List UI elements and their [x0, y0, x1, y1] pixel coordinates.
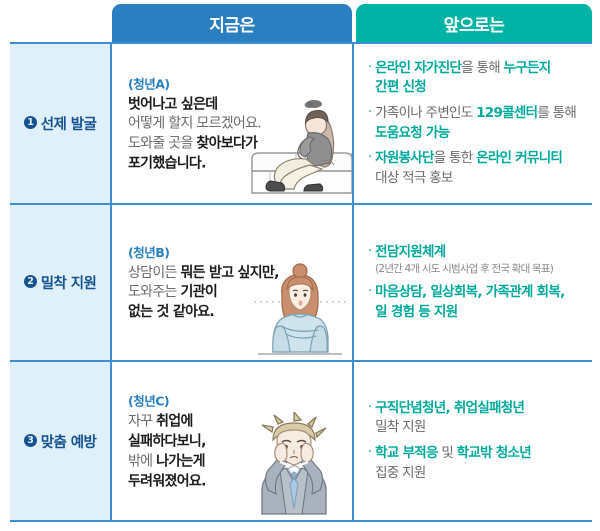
quote-speaker-1: (청년A): [128, 73, 261, 92]
bullet-item: ·학교 부적응 및 학교밖 청소년집중 지원: [368, 444, 582, 483]
bullet-list-2: ·전담지원체계(2년간 4개 시도 시범사업 후 전국 확대 목표)·마음상담,…: [368, 237, 582, 328]
bullet-item: ·전담지원체계(2년간 4개 시도 시범사업 후 전국 확대 목표): [368, 243, 582, 277]
bullet-item: ·가족이나 주변인도 129콜센터를 통해도움요청 가능: [368, 104, 582, 143]
quote-block-1: (청년A) 벗어나고 싶은데어떻게 할지 모르겠어요.도와줄 곳을 찾아보다가포…: [128, 73, 261, 175]
quote-line: 실패하다보니,: [128, 432, 206, 452]
quote-line: 포기했습니다.: [128, 154, 261, 174]
tab-now-label: 지금은: [209, 11, 254, 36]
quote-line: 없는 것 같아요.: [128, 303, 279, 323]
table-row: 2 밀착 지원 (청년B) 상담이든 뭐든 받고 싶지만,도와주는 기관이없는 …: [10, 205, 592, 362]
bullet-text: 마음상담, 일상회복, 가족관계 회복,일 경험 등 지원: [375, 283, 564, 322]
row-now-cell-2: (청년B) 상담이든 뭐든 받고 싶지만,도와주는 기관이없는 것 같아요.: [112, 205, 354, 360]
bullet-text: 전담지원체계(2년간 4개 시도 시범사업 후 전국 확대 목표): [375, 243, 553, 277]
quote-line: 어떻게 할지 모르겠어요.: [128, 115, 261, 135]
quote-line: 벗어나고 싶은데: [128, 95, 261, 115]
row-now-cell-3: (청년C) 자꾸 취업에실패하다보니,밖에 나가는게두려워졌어요.: [112, 362, 354, 520]
table-body: 1 선제 발굴 (청년A) 벗어나고 싶은데어떻게 할지 모르겠어요.도와줄 곳…: [10, 42, 592, 522]
row-label-cell-2: 2 밀착 지원: [10, 205, 112, 360]
quote-line: 두려워졌어요.: [128, 472, 206, 492]
row-future-cell-3: ·구직단념청년, 취업실패청년밀착 지원·학교 부적응 및 학교밖 청소년집중 …: [354, 362, 592, 520]
quote-block-3: (청년C) 자꾸 취업에실패하다보니,밖에 나가는게두려워졌어요.: [128, 390, 206, 492]
bullet-item: ·구직단념청년, 취업실패청년밀착 지원: [368, 399, 582, 438]
bullet-note: (2년간 4개 시도 시범사업 후 전국 확대 목표): [375, 263, 553, 277]
quote-line: 도와주는 기관이: [128, 284, 279, 304]
quote-lines-2: 상담이든 뭐든 받고 싶지만,도와주는 기관이없는 것 같아요.: [128, 264, 279, 324]
bullet-text: 가족이나 주변인도 129콜센터를 통해도움요청 가능: [375, 104, 576, 143]
bullet-item: ·자원봉사단을 통한 온라인 커뮤니티대상 적극 홍보: [368, 149, 582, 188]
infographic-table: 지금은 앞으로는 1 선제 발굴 (청년A) 벗어나고 싶은데어떻게 할지 모르…: [0, 0, 600, 531]
row-number-badge-3: 3: [24, 434, 37, 447]
bullet-dot-icon: ·: [368, 283, 372, 302]
quote-line: 자꾸 취업에: [128, 412, 206, 432]
quote-speaker-3: (청년C): [128, 390, 206, 409]
bullet-text: 온라인 자가진단을 통해 누구든지간편 신청: [375, 59, 550, 98]
row-label-cell-3: 3 맞춤 예방: [10, 362, 112, 520]
header-row: 지금은 앞으로는: [0, 0, 600, 44]
bullet-dot-icon: ·: [368, 104, 372, 123]
bullet-dot-icon: ·: [368, 399, 372, 418]
row-future-cell-1: ·온라인 자가진단을 통해 누구든지간편 신청·가족이나 주변인도 129콜센터…: [354, 44, 592, 203]
row-label-text-2: 밀착 지원: [41, 272, 96, 293]
illustration-stressed-man-in-suit: [246, 412, 342, 516]
row-now-cell-1: (청년A) 벗어나고 싶은데어떻게 할지 모르겠어요.도와줄 곳을 찾아보다가포…: [112, 44, 354, 203]
quote-speaker-2: (청년B): [128, 242, 279, 261]
illustration-person-sitting-on-sofa: [248, 97, 354, 201]
bullet-list-1: ·온라인 자가진단을 통해 누구든지간편 신청·가족이나 주변인도 129콜센터…: [368, 53, 582, 194]
row-label-cell-1: 1 선제 발굴: [10, 44, 112, 203]
row-label-text-1: 선제 발굴: [41, 113, 96, 134]
bullet-text: 자원봉사단을 통한 온라인 커뮤니티대상 적극 홍보: [375, 149, 562, 188]
row-future-cell-2: ·전담지원체계(2년간 4개 시도 시범사업 후 전국 확대 목표)·마음상담,…: [354, 205, 592, 360]
quote-lines-1: 벗어나고 싶은데어떻게 할지 모르겠어요.도와줄 곳을 찾아보다가포기했습니다.: [128, 95, 261, 175]
quote-lines-3: 자꾸 취업에실패하다보니,밖에 나가는게두려워졌어요.: [128, 412, 206, 492]
quote-block-2: (청년B) 상담이든 뭐든 받고 싶지만,도와주는 기관이없는 것 같아요.: [128, 242, 279, 324]
quote-line: 상담이든 뭐든 받고 싶지만,: [128, 264, 279, 284]
table-row: 3 맞춤 예방 (청년C) 자꾸 취업에실패하다보니,밖에 나가는게두려워졌어요…: [10, 362, 592, 520]
bullet-dot-icon: ·: [368, 59, 372, 78]
quote-line: 밖에 나가는게: [128, 452, 206, 472]
bullet-item: ·온라인 자가진단을 통해 누구든지간편 신청: [368, 59, 582, 98]
bullet-list-3: ·구직단념청년, 취업실패청년밀착 지원·학교 부적응 및 학교밖 청소년집중 …: [368, 393, 582, 489]
table-row: 1 선제 발굴 (청년A) 벗어나고 싶은데어떻게 할지 모르겠어요.도와줄 곳…: [10, 44, 592, 205]
bullet-text: 구직단념청년, 취업실패청년밀착 지원: [375, 399, 524, 438]
bullet-dot-icon: ·: [368, 149, 372, 168]
quote-line: 도와줄 곳을 찾아보다가: [128, 135, 261, 155]
bullet-dot-icon: ·: [368, 444, 372, 463]
tab-future-label: 앞으로는: [444, 11, 505, 36]
row-label-text-3: 맞춤 예방: [41, 431, 96, 452]
bullet-dot-icon: ·: [368, 243, 372, 262]
row-number-badge-2: 2: [24, 275, 37, 288]
row-number-badge-1: 1: [24, 116, 37, 129]
tab-now[interactable]: 지금은: [112, 4, 352, 44]
bullet-item: ·마음상담, 일상회복, 가족관계 회복,일 경험 등 지원: [368, 283, 582, 322]
tab-future[interactable]: 앞으로는: [356, 4, 592, 44]
bullet-text: 학교 부적응 및 학교밖 청소년집중 지원: [375, 444, 531, 483]
